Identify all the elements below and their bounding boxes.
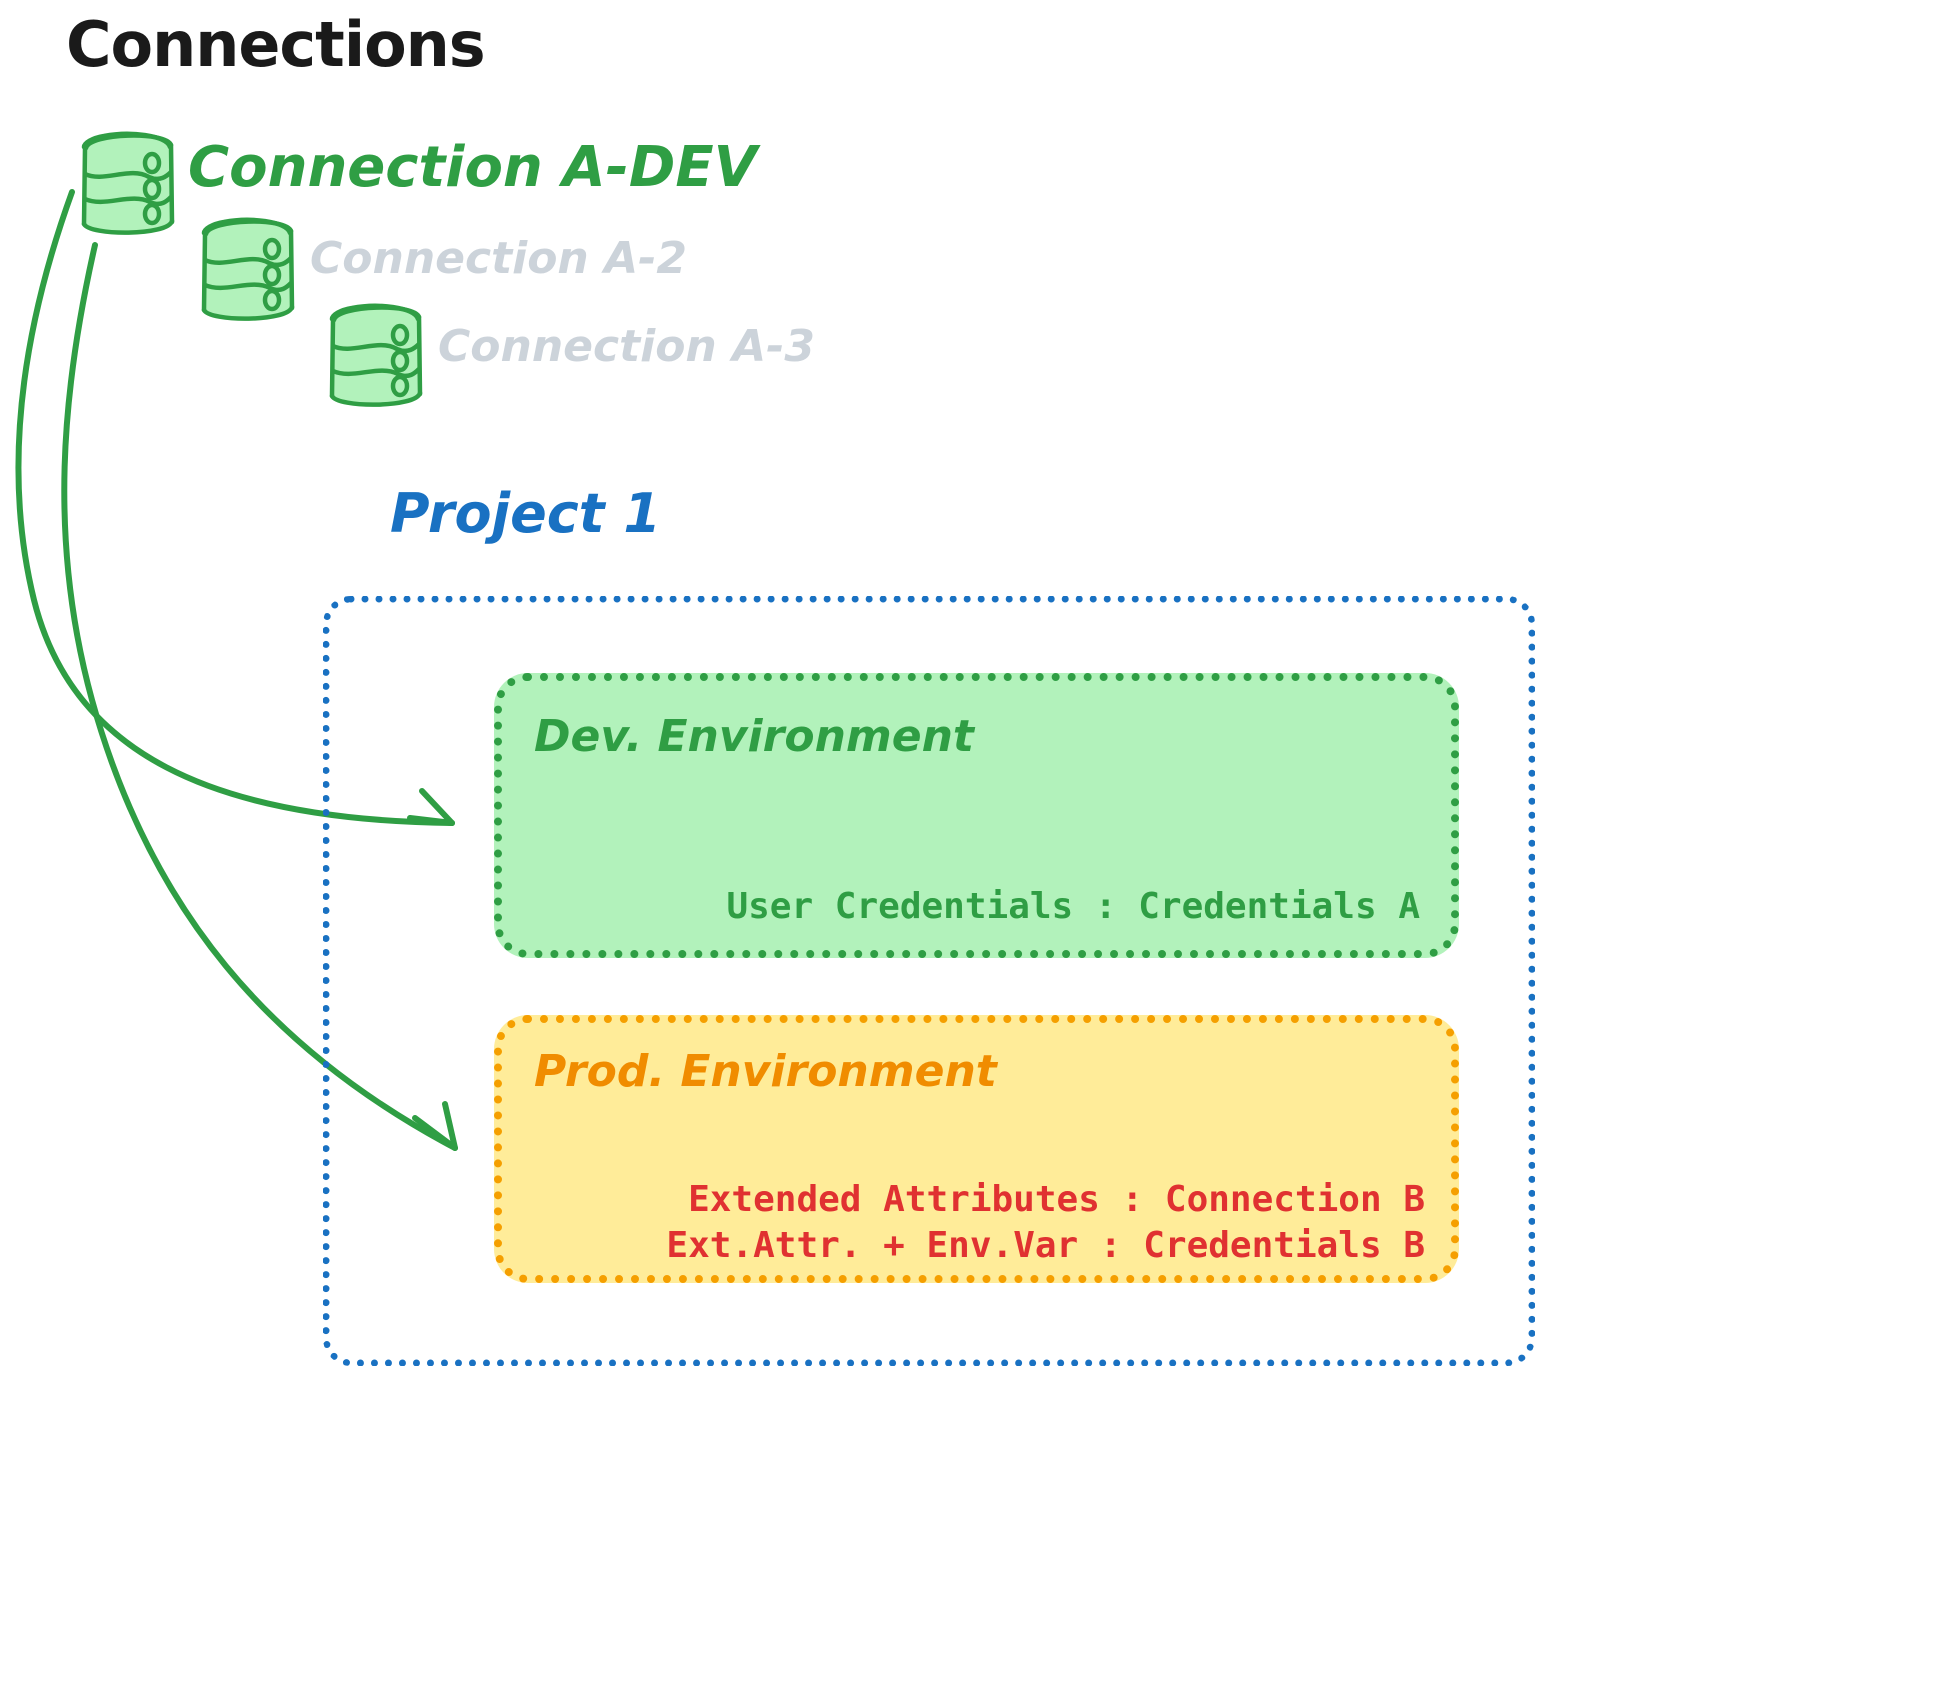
database-cylinder-icon-2[interactable] xyxy=(203,220,292,320)
page-title: Connections xyxy=(66,14,485,76)
connection-label-a-dev[interactable]: Connection A-DEV xyxy=(188,140,757,196)
database-cylinder-icon-3[interactable] xyxy=(331,306,420,406)
dev-environment-credentials: User Credentials : Credentials A xyxy=(700,884,1420,930)
database-cylinder-icon-1[interactable] xyxy=(83,134,172,234)
prod-credential-row-1: Extended Attributes : Connection B xyxy=(640,1177,1425,1223)
project-title: Project 1 xyxy=(390,487,661,541)
dev-credential-row: User Credentials : Credentials A xyxy=(700,884,1420,930)
prod-credential-row-2: Ext.Attr. + Env.Var : Credentials B xyxy=(640,1223,1425,1269)
connection-label-a-2[interactable]: Connection A-2 xyxy=(310,237,687,281)
prod-environment-credentials: Extended Attributes : Connection B Ext.A… xyxy=(640,1177,1425,1269)
dev-environment-title: Dev. Environment xyxy=(534,715,974,759)
prod-environment-title: Prod. Environment xyxy=(534,1050,997,1094)
connection-label-a-3[interactable]: Connection A-3 xyxy=(438,325,815,369)
